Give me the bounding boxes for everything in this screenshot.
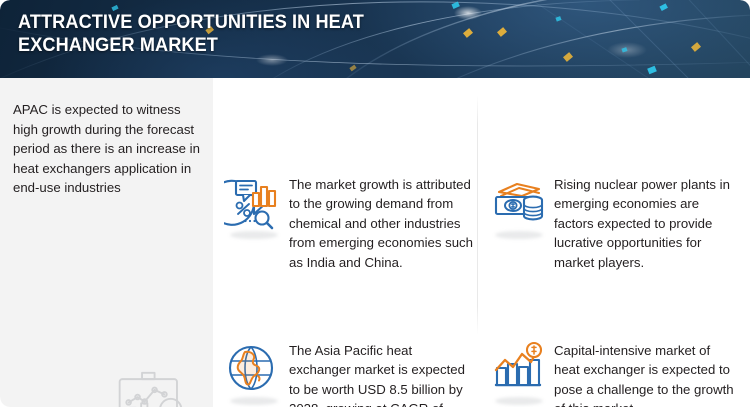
infographic-root: Attractive Opportunities in Heat Exchang… [0, 0, 750, 407]
card-text: The market growth is attributed to the g… [289, 174, 474, 272]
bar-chart-growth-dollar-icon [489, 340, 547, 398]
content-area: APAC is expected to witness high growth … [0, 78, 750, 407]
card-nuclear-power: Rising nuclear power plants in emerging … [489, 174, 739, 272]
card-text: Rising nuclear power plants in emerging … [554, 174, 739, 272]
vertical-divider-middle [477, 95, 478, 335]
money-banknote-coins-icon [489, 174, 547, 232]
card-text: The Asia Pacific heat exchanger market i… [289, 340, 474, 407]
page-title: Attractive Opportunities in Heat Exchang… [18, 11, 409, 57]
icon-shadow [230, 397, 278, 405]
icon-shadow [230, 231, 278, 239]
globe-icon [224, 340, 282, 398]
presentation-chart-search-icon [108, 370, 194, 407]
card-apac-forecast: The Asia Pacific heat exchanger market i… [224, 340, 474, 407]
analytics-bubble-bar-chart-icon [224, 174, 282, 232]
icon-shadow [495, 397, 543, 405]
card-text: Capital-intensive market of heat exchang… [554, 340, 739, 407]
card-market-growth: The market growth is attributed to the g… [224, 174, 474, 272]
header-banner: Attractive Opportunities in Heat Exchang… [0, 0, 750, 78]
card-capital-intensive: Capital-intensive market of heat exchang… [489, 340, 739, 407]
left-panel-description: APAC is expected to witness high growth … [13, 100, 205, 198]
icon-shadow [495, 231, 543, 239]
left-region-panel: APAC is expected to witness high growth … [0, 78, 213, 407]
